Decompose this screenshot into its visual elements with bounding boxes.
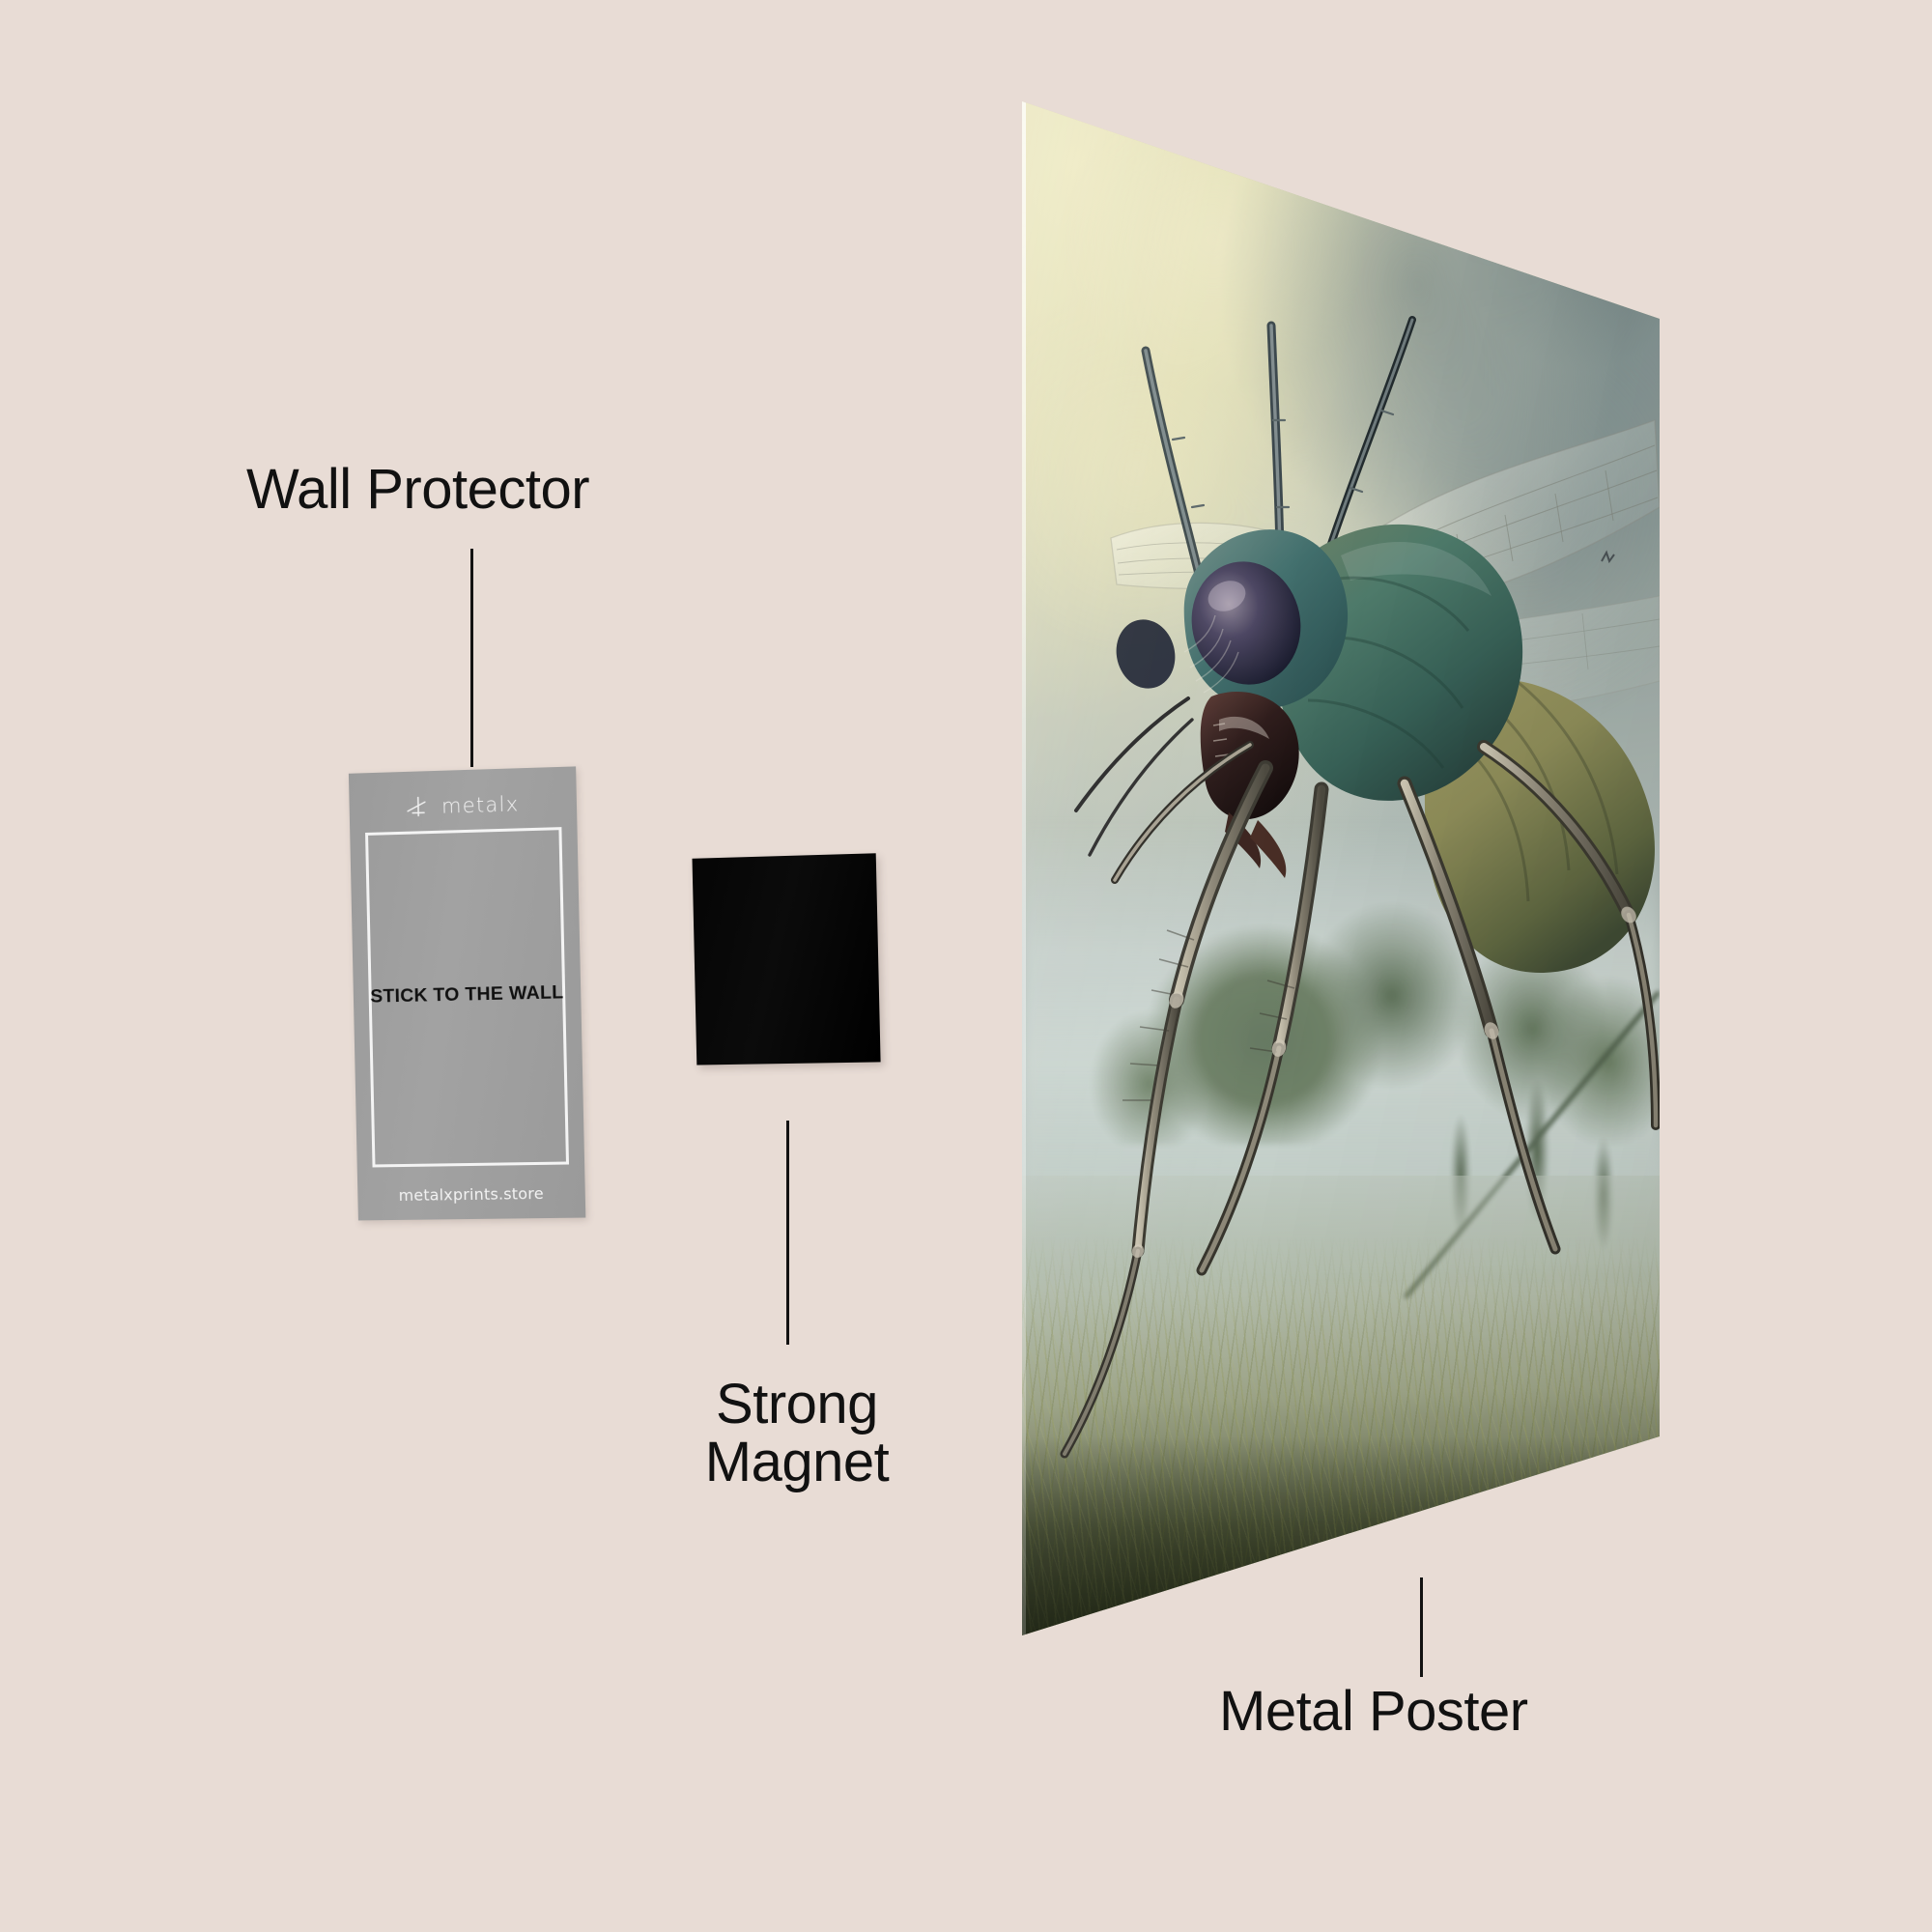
wall-protector-url: metalxprints.store (357, 1183, 585, 1205)
wall-protector-card[interactable]: metalx STICK TO THE WALL metalxprints.st… (349, 766, 585, 1220)
leader-line-wall-protector (470, 549, 473, 767)
leader-line-metal-poster (1420, 1577, 1423, 1677)
poster-mosquito-illustration (1022, 101, 1660, 1635)
wall-protector-brand-text: metalx (441, 792, 520, 817)
infographic-canvas: Wall Protector metalx STICK TO THE WALL … (0, 0, 1932, 1932)
label-metal-poster: Metal Poster (1219, 1683, 1528, 1741)
distant-insect-speck (1602, 553, 1614, 561)
metal-poster-artwork[interactable] (1022, 101, 1660, 1635)
label-wall-protector: Wall Protector (246, 461, 589, 519)
label-strong-magnet-line1: Strong (676, 1376, 918, 1434)
poster-image (1022, 101, 1660, 1635)
wall-protector-logo: metalx (349, 785, 577, 825)
metalx-cross-icon (406, 795, 433, 819)
label-strong-magnet-line2: Magnet (676, 1434, 918, 1492)
strong-magnet-tile[interactable] (693, 853, 881, 1065)
leader-line-strong-magnet (786, 1121, 789, 1345)
label-strong-magnet: Strong Magnet (676, 1376, 918, 1492)
